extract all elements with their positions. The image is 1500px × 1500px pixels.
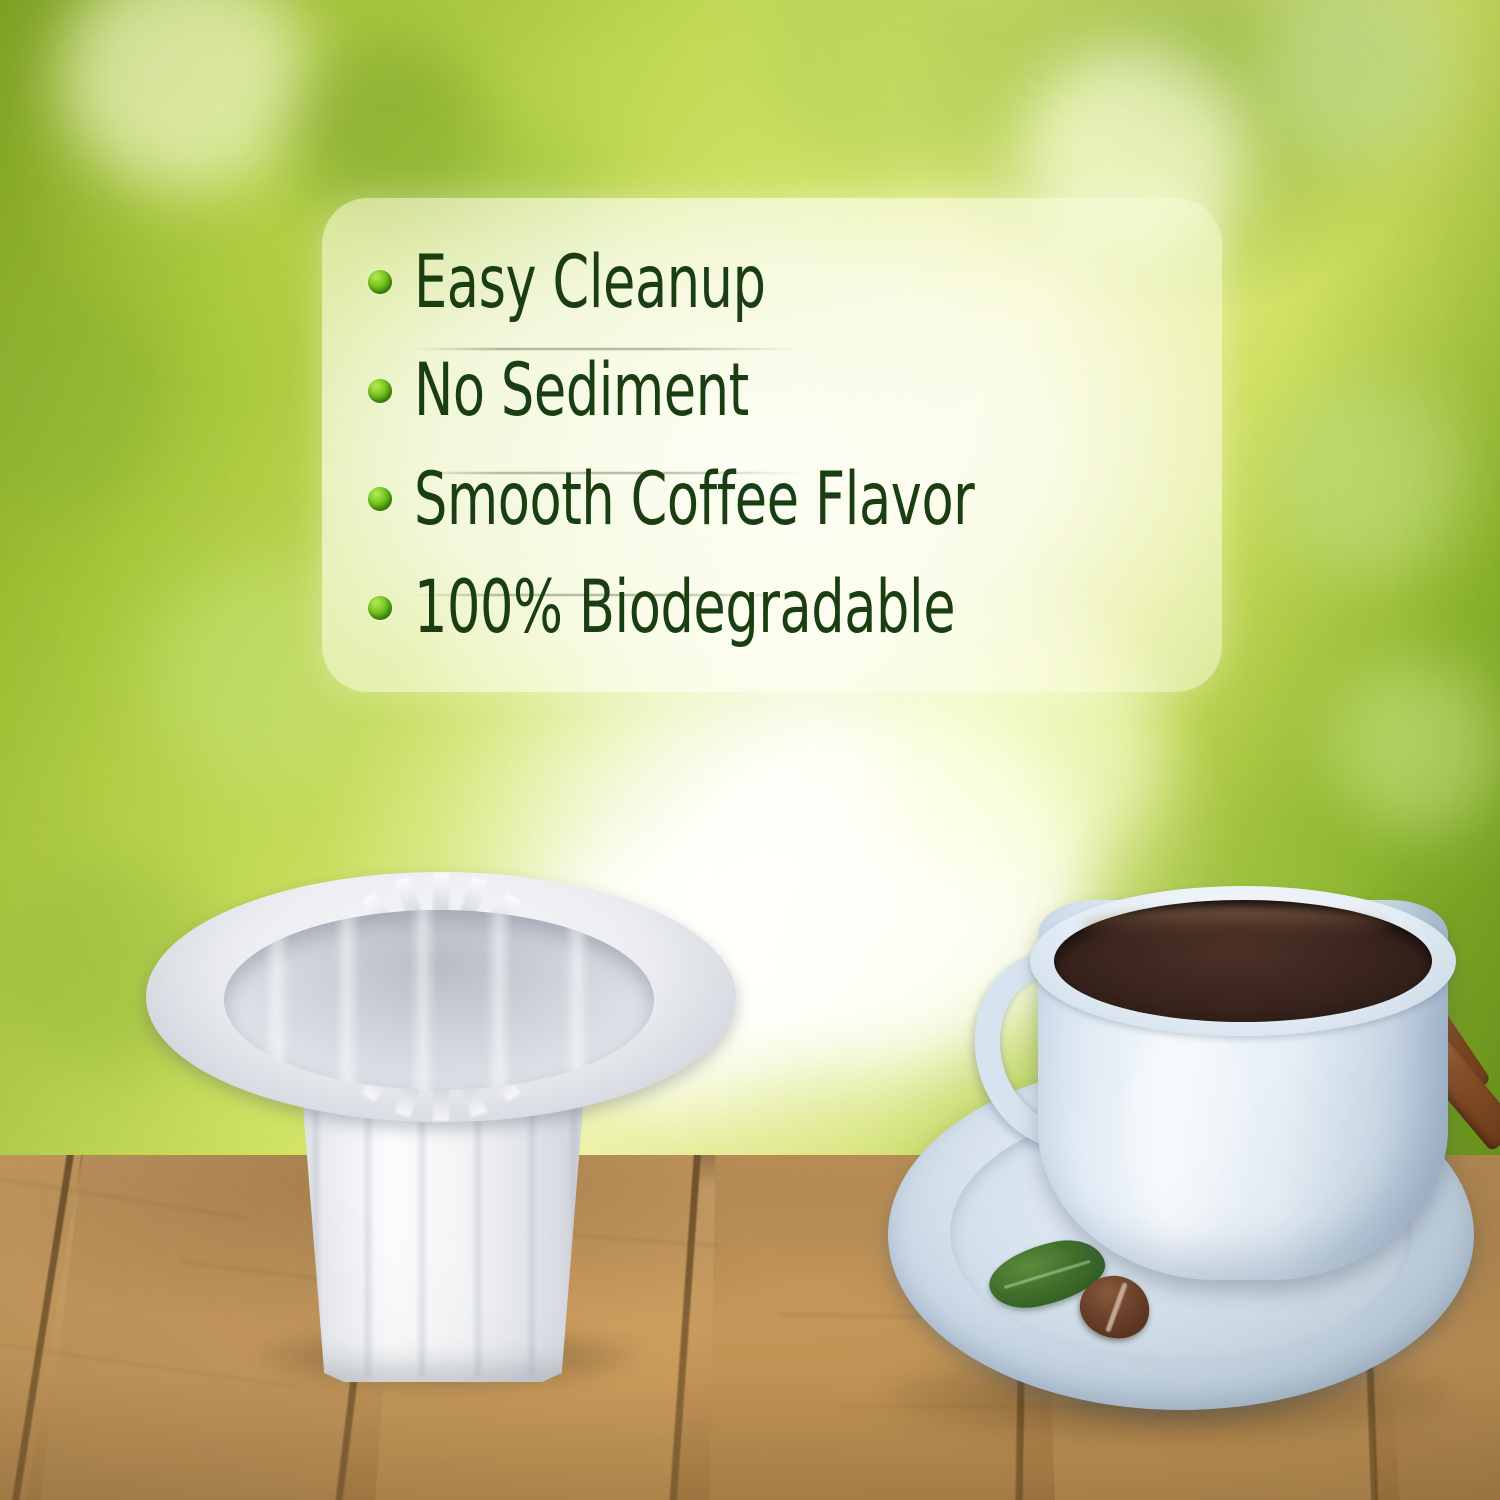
bokeh-circle: [760, 0, 1020, 180]
filter-crease: [528, 1082, 536, 1376]
filter-inner-fold: [410, 910, 436, 1090]
coffee-surface-highlight: [1080, 907, 1390, 944]
coffee-bean-crack: [1105, 1282, 1128, 1333]
paper-coffee-filter-cup: [128, 852, 748, 1412]
feature-item-smooth-coffee-flavor: Smooth Coffee Flavor: [368, 445, 1196, 554]
leaf-vein: [1004, 1260, 1091, 1289]
green-sphere-bullet-icon: [368, 270, 392, 294]
feature-label: 100% Biodegradable: [414, 571, 955, 644]
coffee-cup-and-saucer: [880, 878, 1500, 1500]
product-feature-image: Easy Cleanup No Sediment Smooth Coffee F…: [0, 0, 1500, 1500]
bokeh-circle: [1330, 660, 1500, 835]
feature-label: No Sediment: [414, 354, 749, 427]
feature-label: Easy Cleanup: [414, 246, 766, 319]
feature-list-card: Easy Cleanup No Sediment Smooth Coffee F…: [322, 198, 1222, 692]
filter-inner-fold: [264, 910, 290, 1090]
filter-crease: [474, 1082, 482, 1376]
feature-label: Smooth Coffee Flavor: [414, 463, 974, 536]
feature-list: Easy Cleanup No Sediment Smooth Coffee F…: [368, 228, 1196, 662]
green-sphere-bullet-icon: [368, 596, 392, 620]
feature-item-no-sediment: No Sediment: [368, 337, 1196, 446]
filter-inner-fold: [334, 910, 360, 1090]
bokeh-circle: [1260, 0, 1460, 165]
filter-body: [278, 1082, 608, 1382]
green-sphere-bullet-icon: [368, 379, 392, 403]
bokeh-circle: [1270, 380, 1460, 575]
filter-crease: [364, 1082, 372, 1376]
feature-item-100-biodegradable: 100% Biodegradable: [368, 554, 1196, 663]
bokeh-circle: [60, 0, 310, 190]
filter-inner-fold: [564, 910, 590, 1090]
filter-crease: [418, 1082, 426, 1376]
coffee-liquid: [1054, 900, 1432, 1022]
cup-highlight: [1128, 1006, 1251, 1242]
green-sphere-bullet-icon: [368, 487, 392, 511]
filter-interior: [224, 910, 654, 1090]
bokeh-circle: [0, 300, 170, 510]
filter-inner-fold: [486, 910, 512, 1090]
feature-item-easy-cleanup: Easy Cleanup: [368, 228, 1196, 337]
